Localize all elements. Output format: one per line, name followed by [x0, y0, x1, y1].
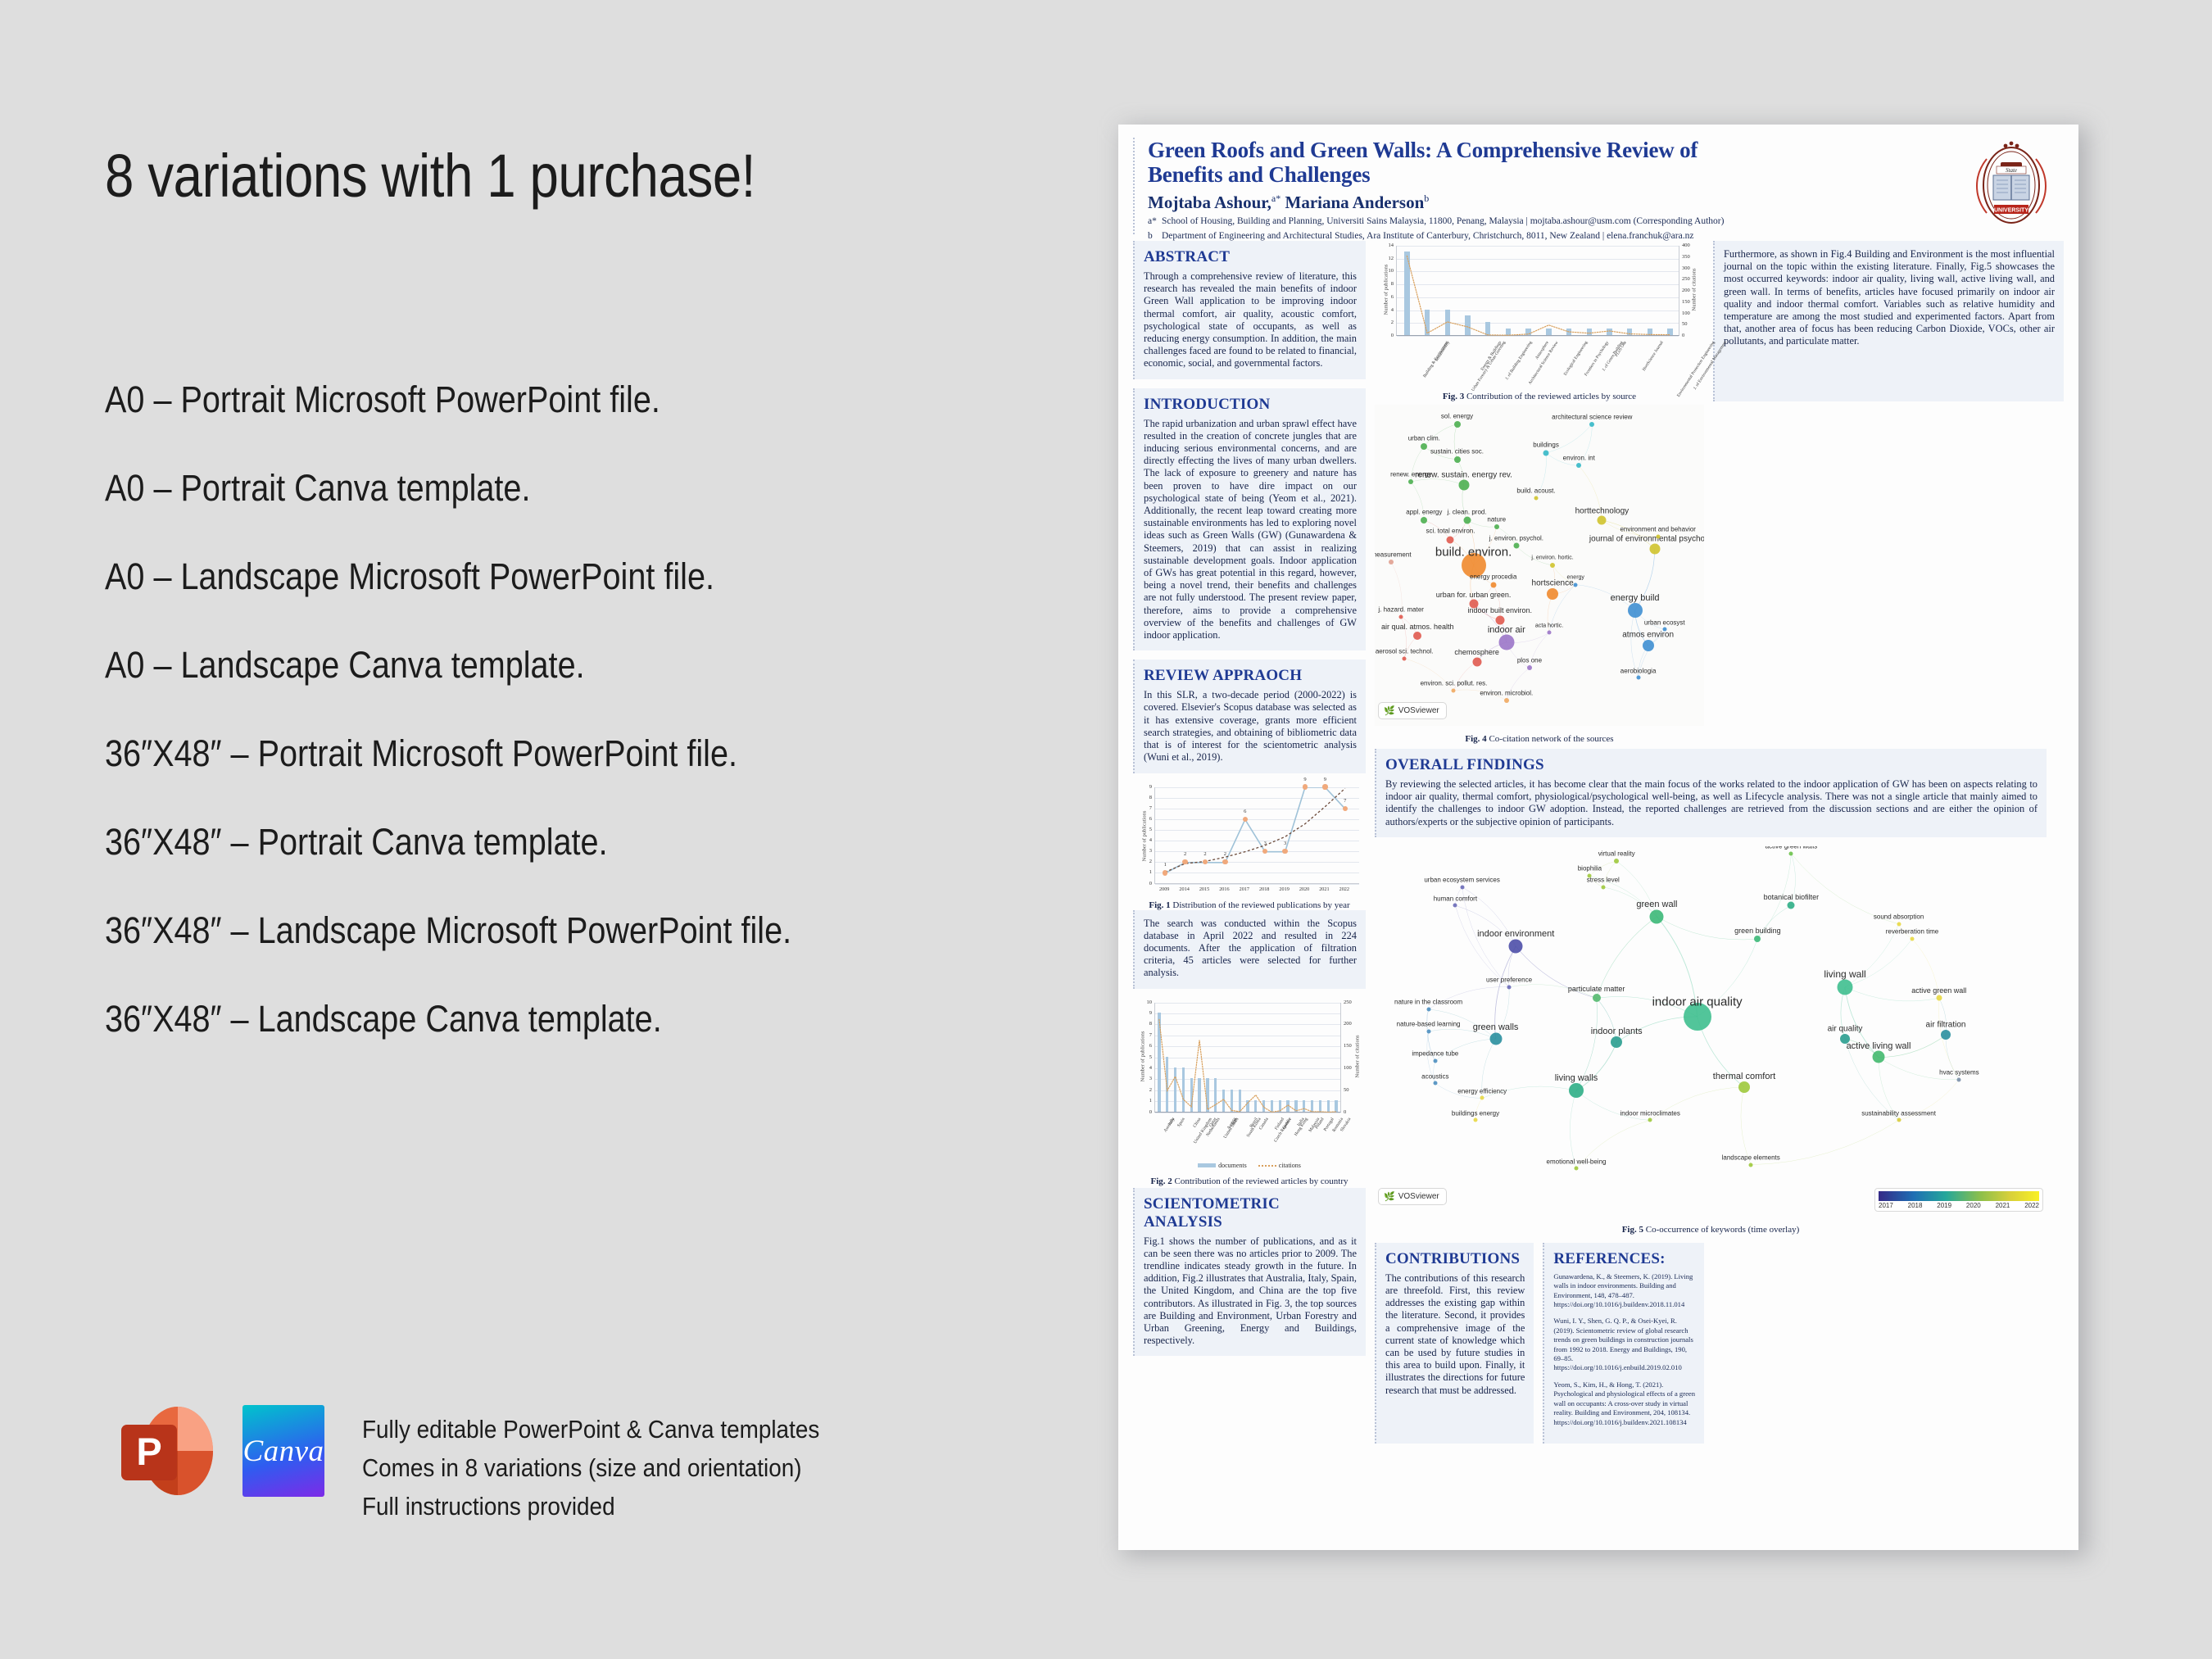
network-node	[1408, 479, 1413, 484]
section-body: The contributions of this research are t…	[1385, 1272, 1525, 1397]
gridline	[1155, 884, 1359, 885]
network-node	[1548, 631, 1552, 635]
network-node-label: j. environ. hortic.	[1531, 555, 1573, 561]
poster-body: ABSTRACT Through a comprehensive review …	[1133, 241, 2064, 1529]
network-node	[1498, 635, 1514, 650]
data-point	[1163, 870, 1167, 875]
network-node	[1738, 1081, 1750, 1093]
network-node-label: hvac systems	[1939, 1069, 1979, 1077]
network-node	[1650, 909, 1664, 923]
x-axis-tick: 2021	[1314, 886, 1334, 892]
network-node-label: environ. int	[1563, 455, 1595, 462]
y-axis-tick: 7	[1137, 1032, 1152, 1038]
network-node	[1454, 456, 1461, 463]
network-node	[1426, 1029, 1430, 1033]
legend-entry-documents: documents	[1198, 1162, 1247, 1169]
list-item: 36″X48″ – Portrait Microsoft PowerPoint …	[105, 731, 955, 819]
network-node-label: indoor environment	[1477, 929, 1554, 939]
x-axis-tick: J. of Building Engineering	[1505, 340, 1534, 380]
legend-entry-citations: citations	[1258, 1162, 1301, 1169]
network-node-label: nature in the classroom	[1394, 999, 1462, 1006]
network-node	[1413, 632, 1421, 640]
network-node-label: impedance tube	[1412, 1050, 1458, 1058]
network-node-label: urban ecosyst	[1644, 619, 1685, 626]
x-axis-tick: 2009	[1154, 886, 1174, 892]
network-node	[1574, 582, 1578, 587]
network-node-label: sustain. cities soc.	[1430, 447, 1484, 455]
network-node-label: biophilia	[1578, 865, 1602, 873]
network-node-label: energy procedia	[1470, 573, 1516, 581]
y-axis-tick: 0	[1137, 1109, 1152, 1115]
affiliation-a-mark: a*	[1148, 215, 1162, 228]
network-node-label: sustainability assessment	[1861, 1109, 1936, 1117]
x-axis-tick: 2022	[1335, 886, 1354, 892]
data-point	[1222, 859, 1227, 864]
network-node	[1454, 421, 1461, 428]
y-axis-tick: 10	[1137, 999, 1152, 1005]
data-label: 6	[1239, 809, 1252, 814]
network-node-label: particulate matter	[1568, 985, 1625, 993]
network-node	[1489, 1032, 1502, 1045]
network-node-label: renew. energy	[1390, 471, 1431, 478]
list-item: 36″X48″ – Portrait Canva template.	[105, 819, 955, 908]
x-axis-tick: 2014	[1175, 886, 1194, 892]
reference-entry: Wuni, I. Y., Shen, G. Q. P., & Osei-Kyei…	[1553, 1317, 1695, 1372]
author-sup-a: a*	[1271, 193, 1281, 204]
fig5-colorbar-gradient	[1879, 1191, 2039, 1201]
figure-4: build. environ.indoor airenergy buildatm…	[1375, 405, 1704, 749]
x-axis-tick: 2015	[1194, 886, 1214, 892]
footer-text-block: Fully editable PowerPoint & Canva templa…	[362, 1405, 870, 1525]
fig4-label: Fig. 4	[1465, 734, 1486, 744]
network-node	[1433, 1081, 1437, 1086]
x-axis-tick: 2018	[1254, 886, 1274, 892]
poster-column-left: ABSTRACT Through a comprehensive review …	[1133, 241, 1366, 1529]
y-axis-tick: 0	[1137, 881, 1152, 886]
network-node	[1480, 1096, 1484, 1100]
network-node	[1873, 1051, 1885, 1063]
y-axis-tick: 6	[1137, 1043, 1152, 1049]
data-label: 2	[1199, 851, 1212, 857]
network-node	[1550, 563, 1555, 568]
fig4-caption-text: Co-citation network of the sources	[1489, 734, 1613, 744]
list-item: 36″X48″ – Landscape Canva template.	[105, 996, 955, 1085]
y-axis-tick: 10	[1379, 268, 1394, 274]
section-body: The search was conducted within the Scop…	[1144, 918, 1357, 980]
figure-3: Number of publications Number of citatio…	[1375, 241, 1704, 401]
page-title: 8 variations with 1 purchase!	[105, 141, 755, 211]
poster-authors: Mojtaba Ashour,a* Mariana Andersonb	[1148, 193, 2064, 213]
vosviewer-badge: 🌿 VOSviewer	[1378, 1188, 1447, 1205]
network-node-label: environment and behavior	[1620, 526, 1696, 533]
vosviewer-label: VOSviewer	[1398, 706, 1439, 715]
fig2-legend: documents citations	[1133, 1162, 1366, 1169]
network-node	[1460, 885, 1464, 889]
y-axis-tick: 8	[1137, 795, 1152, 800]
footer-line: Fully editable PowerPoint & Canva templa…	[362, 1410, 819, 1448]
network-node	[1897, 1118, 1901, 1122]
network-node	[1547, 588, 1558, 600]
network-node	[1569, 1083, 1584, 1098]
section-abstract: ABSTRACT Through a comprehensive review …	[1133, 241, 1366, 379]
network-node-label: indoor microclimates	[1620, 1109, 1680, 1117]
section-title: ABSTRACT	[1144, 248, 1357, 266]
fig2-citations-series	[1155, 1003, 1340, 1113]
section-introduction: INTRODUCTION The rapid urbanization and …	[1133, 388, 1366, 651]
y2-axis-tick: 0	[1682, 333, 1698, 338]
network-node-label: plos one	[1517, 657, 1542, 664]
fig1-caption: Fig. 1 Distribution of the reviewed publ…	[1133, 900, 1366, 910]
fig5-caption-text: Co-occurrence of keywords (time overlay)	[1646, 1225, 1800, 1235]
fig5-colorbar-ticks: 2017 2018 2019 2020 2021 2022	[1879, 1202, 2039, 1209]
network-node-label: aerobiologia	[1620, 667, 1657, 674]
vosviewer-badge: 🌿 VOSviewer	[1378, 702, 1447, 719]
network-node	[1611, 1036, 1622, 1048]
affiliation-a-text: School of Housing, Building and Planning…	[1162, 216, 1724, 226]
network-node	[1513, 543, 1519, 549]
list-item: 36″X48″ – Landscape Microsoft PowerPoint…	[105, 908, 955, 996]
network-node	[1426, 1007, 1430, 1011]
data-point	[1343, 806, 1348, 811]
network-node	[1754, 936, 1761, 942]
network-node	[1614, 859, 1619, 863]
section-body: Fig.1 shows the number of publications, …	[1144, 1235, 1357, 1348]
network-node-label: j. clean. prod.	[1448, 508, 1487, 515]
data-label: 3	[1258, 841, 1271, 846]
section-title: REVIEW APPRAOCH	[1144, 667, 1357, 685]
y-axis-tick: 3	[1137, 1076, 1152, 1081]
fig4-edges	[1375, 405, 1704, 726]
fig2-y2label: Number of citations	[1355, 1022, 1361, 1090]
data-point	[1282, 849, 1287, 854]
network-node-label: journal of environmental psychology	[1589, 534, 1704, 543]
data-label: 2	[1218, 851, 1231, 857]
network-node	[1421, 443, 1427, 450]
network-node-label: stress level	[1587, 877, 1620, 884]
network-node-label: urban clim.	[1408, 434, 1440, 442]
network-node	[1911, 936, 1915, 941]
network-node-label: emotional well-being	[1547, 1158, 1607, 1165]
data-point	[1243, 817, 1248, 822]
y2-axis-tick: 400	[1682, 243, 1698, 248]
network-node-label: horttechnology	[1575, 506, 1630, 515]
network-node-label: air filtration	[1926, 1021, 1966, 1030]
fig3-label: Fig. 3	[1443, 392, 1464, 401]
reference-entry: Yeom, S., Kim, H., & Hong, T. (2021). Ps…	[1553, 1380, 1695, 1427]
network-node	[1789, 851, 1793, 855]
university-seal-icon: State UNIVERSITY	[1967, 139, 2056, 228]
y-axis-tick: 3	[1137, 848, 1152, 854]
powerpoint-logo-letter: P	[121, 1425, 177, 1480]
y-axis-tick: 6	[1137, 816, 1152, 822]
canva-logo-text: Canva	[243, 1434, 324, 1469]
section-overall-findings: OVERALL FINDINGS By reviewing the select…	[1375, 749, 2047, 837]
network-node-label: buildings energy	[1452, 1109, 1499, 1117]
fig1-label: Fig. 1	[1149, 900, 1170, 910]
list-item: A0 – Portrait Microsoft PowerPoint file.	[105, 377, 955, 465]
network-node	[1840, 1034, 1850, 1044]
network-node	[1656, 534, 1660, 538]
network-node	[1788, 902, 1795, 909]
poster-header: Green Roofs and Green Walls: A Comprehen…	[1133, 138, 2064, 234]
section-title: REFERENCES:	[1553, 1250, 1695, 1268]
y-axis-tick: 2	[1137, 859, 1152, 864]
list-item: A0 – Landscape Canva template.	[105, 642, 955, 731]
footer-line: Full instructions provided	[362, 1487, 819, 1525]
reference-entry: Gunawardena, K., & Steemers, K. (2019). …	[1553, 1272, 1695, 1310]
network-node	[1504, 698, 1509, 703]
network-node-label: air quality	[1828, 1024, 1863, 1033]
network-node	[1593, 994, 1601, 1002]
network-node-label: air qual. atmos. health	[1381, 623, 1454, 631]
fig5-colorbar: 2017 2018 2019 2020 2021 2022	[1874, 1188, 2043, 1212]
y-axis-tick: 9	[1137, 784, 1152, 790]
network-node	[1421, 517, 1427, 524]
network-node	[1463, 517, 1471, 524]
fig3-ylabel: Number of publications	[1384, 256, 1389, 324]
fig2-caption: Fig. 2 Contribution of the reviewed arti…	[1133, 1176, 1366, 1186]
network-node	[1534, 496, 1538, 500]
list-item: A0 – Portrait Canva template.	[105, 465, 955, 554]
network-node	[1453, 904, 1457, 908]
section-contributions: CONTRIBUTIONS The contributions of this …	[1375, 1243, 1534, 1444]
poster-title: Green Roofs and Green Walls: A Comprehen…	[1148, 138, 1770, 187]
network-node-label: green building	[1734, 927, 1781, 935]
network-node	[1527, 665, 1532, 670]
y2-axis-tick: 0	[1344, 1109, 1360, 1115]
network-node	[1897, 922, 1901, 926]
network-node-label: living walls	[1555, 1073, 1598, 1083]
network-node	[1575, 1167, 1579, 1171]
y2-axis-tick: 350	[1682, 254, 1698, 260]
section-body: The rapid urbanization and urban sprawl …	[1144, 418, 1357, 642]
section-search-note: The search was conducted within the Scop…	[1133, 910, 1366, 989]
x-axis-tick: 2017	[1235, 886, 1254, 892]
data-point	[1303, 784, 1308, 789]
y2-axis-tick: 50	[1682, 321, 1698, 327]
x-axis-tick: Urban Forestry & Urban Greening	[1471, 340, 1507, 392]
canva-logo-icon: Canva	[243, 1405, 324, 1497]
network-node-label: nature-based learning	[1397, 1021, 1461, 1028]
x-axis-tick: 2016	[1214, 886, 1234, 892]
network-node-label: acoustics	[1421, 1072, 1448, 1080]
figure-5: indoor air qualityliving wallgreen walll…	[1375, 846, 2047, 1240]
section-furthermore: Furthermore, as shown in Fig.4 Building …	[1713, 241, 2064, 401]
fig1-caption-text: Distribution of the reviewed publication…	[1172, 900, 1349, 910]
network-node	[1628, 603, 1643, 618]
affiliation-b-text: Department of Engineering and Architectu…	[1162, 231, 1693, 241]
variations-list: A0 – Portrait Microsoft PowerPoint file.…	[105, 377, 1072, 1085]
network-node	[1749, 1163, 1753, 1167]
data-label: 9	[1318, 777, 1331, 782]
network-node-label: j. hazard. mater	[1378, 606, 1424, 614]
network-node	[1643, 640, 1654, 651]
network-node-label: buildings	[1533, 442, 1559, 449]
fig3-caption: Fig. 3 Contribution of the reviewed arti…	[1375, 392, 1704, 401]
x-axis-tick: Spain	[1176, 1117, 1186, 1128]
fig3-citations-series	[1397, 246, 1680, 336]
network-node	[1452, 688, 1456, 692]
y-axis-tick: 1	[1137, 869, 1152, 875]
network-node	[1447, 536, 1454, 543]
list-item: A0 – Landscape Microsoft PowerPoint file…	[105, 554, 955, 642]
section-scientometric: SCIENTOMETRIC ANALYSIS Fig.1 shows the n…	[1133, 1188, 1366, 1357]
network-node-label: energy	[1567, 575, 1584, 581]
gridline	[1155, 1113, 1340, 1113]
seal-top-word: State	[2006, 167, 2017, 174]
network-node	[1601, 885, 1605, 889]
fig1-series	[1155, 787, 1355, 884]
network-node-label: aerosol sci. technol.	[1376, 648, 1434, 655]
network-node-label: indoor built environ.	[1467, 606, 1532, 614]
network-node	[1543, 450, 1549, 456]
network-node-label: appl. energy	[1406, 509, 1442, 516]
y-axis-tick: 12	[1379, 256, 1394, 261]
network-node-label: chemosphere	[1454, 648, 1499, 656]
data-label: 1	[1158, 862, 1172, 868]
section-review-approach: REVIEW APPRAOCH In this SLR, a two-decad…	[1133, 660, 1366, 773]
y-axis-tick: 5	[1137, 827, 1152, 832]
network-node-label: human comfort	[1434, 895, 1477, 902]
section-body: In this SLR, a two-decade period (2000-2…	[1144, 689, 1357, 764]
network-node-label: environ. microbiol.	[1480, 689, 1533, 696]
section-body: Furthermore, as shown in Fig.4 Building …	[1724, 248, 2055, 348]
figure-1: Number of publications 01234567891222633…	[1133, 782, 1366, 910]
data-label: 3	[1279, 841, 1292, 846]
author-sup-b: b	[1424, 193, 1429, 204]
network-node	[1636, 676, 1640, 680]
section-body: Through a comprehensive review of litera…	[1144, 270, 1357, 370]
network-node-label: energy build	[1611, 593, 1660, 603]
network-node	[1576, 463, 1581, 468]
y-axis-tick: 9	[1137, 1010, 1152, 1016]
x-axis-tick: 2020	[1294, 886, 1314, 892]
vosviewer-label: VOSviewer	[1398, 1192, 1439, 1201]
section-title: CONTRIBUTIONS	[1385, 1250, 1525, 1268]
fig5-label: Fig. 5	[1622, 1225, 1643, 1235]
y2-axis-tick: 200	[1344, 1021, 1360, 1027]
y-axis-tick: 6	[1379, 294, 1394, 300]
marketing-panel: 8 variations with 1 purchase! A0 – Portr…	[0, 0, 1098, 1659]
network-node-label: nature	[1487, 515, 1506, 523]
y2-axis-tick: 250	[1344, 999, 1360, 1005]
network-node	[1941, 1030, 1951, 1040]
y-axis-tick: 4	[1137, 1065, 1152, 1071]
network-node-label: indoor air quality	[1652, 995, 1743, 1009]
network-node-label: botanical biofilter	[1764, 893, 1820, 901]
y-axis-tick: 1	[1137, 1098, 1152, 1104]
x-axis-tick: Frontiers in Psychology	[1584, 340, 1610, 377]
network-node-label: sol. energy	[1441, 412, 1473, 419]
y-axis-tick: 4	[1137, 837, 1152, 843]
vosviewer-leaf-icon: 🌿	[1384, 705, 1395, 716]
y2-axis-tick: 200	[1682, 288, 1698, 293]
network-node-label: build. acoust.	[1516, 487, 1555, 495]
network-node-label: indoor plants	[1591, 1027, 1643, 1036]
y2-axis-tick: 100	[1344, 1065, 1360, 1071]
network-node-label: living wall	[1824, 968, 1865, 980]
y-axis-tick: 8	[1137, 1021, 1152, 1027]
network-node-label: landscape elements	[1722, 1154, 1780, 1162]
fig3-caption-text: Contribution of the reviewed articles by…	[1466, 392, 1636, 401]
author-name-a: Mojtaba Ashour,	[1148, 193, 1271, 212]
network-node	[1389, 560, 1394, 564]
network-node-label: measurement	[1375, 551, 1412, 559]
y2-axis-tick: 300	[1682, 265, 1698, 271]
y-axis-tick: 8	[1379, 281, 1394, 287]
network-node	[1598, 516, 1607, 525]
network-node-label: indoor air	[1488, 625, 1525, 635]
network-node-label: active living wall	[1847, 1041, 1911, 1051]
section-title: OVERALL FINDINGS	[1385, 756, 2037, 774]
network-node	[1495, 615, 1504, 624]
fig2-caption-text: Contribution of the reviewed articles by…	[1175, 1176, 1349, 1186]
network-node	[1490, 582, 1496, 587]
fig2-label: Fig. 2	[1150, 1176, 1172, 1186]
affiliation-a: a*School of Housing, Building and Planni…	[1148, 215, 2064, 228]
y-axis-tick: 5	[1137, 1054, 1152, 1060]
network-node-label: architectural science review	[1552, 413, 1632, 420]
data-label: 9	[1299, 777, 1312, 782]
y-axis-tick: 2	[1379, 320, 1394, 325]
network-node-label: atmos environ	[1622, 631, 1674, 640]
network-node	[1649, 544, 1660, 555]
x-axis-tick: HortScience Journal	[1642, 340, 1665, 372]
network-node	[1589, 422, 1594, 427]
network-node-label: j. environ. psychol.	[1489, 534, 1543, 542]
network-node	[1936, 995, 1942, 1001]
powerpoint-logo-icon: P	[121, 1405, 213, 1497]
network-node	[1403, 656, 1407, 660]
network-node-label: sci. total environ.	[1426, 528, 1475, 535]
network-node-label: acta hortic.	[1535, 623, 1563, 628]
network-node	[1662, 628, 1666, 632]
poster-column-middle: Number of publications Number of citatio…	[1375, 241, 1704, 1529]
section-body: By reviewing the selected articles, it h…	[1385, 778, 2037, 828]
network-node	[1472, 657, 1481, 666]
section-title: SCIENTOMETRIC ANALYSIS	[1144, 1195, 1357, 1231]
gridline	[1397, 336, 1679, 337]
y-axis-tick: 14	[1379, 243, 1394, 248]
y2-axis-tick: 250	[1682, 276, 1698, 282]
y2-axis-tick: 150	[1344, 1043, 1360, 1049]
y-axis-tick: 2	[1137, 1087, 1152, 1093]
network-node	[1474, 1118, 1478, 1122]
fig4-caption: Fig. 4 Co-citation network of the source…	[1375, 734, 1704, 744]
network-node	[1494, 524, 1499, 529]
y-axis-tick: 7	[1137, 805, 1152, 811]
y-axis-tick: 4	[1379, 307, 1394, 313]
network-node	[1509, 939, 1523, 953]
x-axis-tick: 2019	[1275, 886, 1294, 892]
y2-axis-tick: 150	[1682, 299, 1698, 305]
network-node-label: environ. sci. pollut. res.	[1421, 680, 1488, 687]
network-node-label: active green wall	[1911, 986, 1966, 995]
network-node-label: reverberation time	[1886, 928, 1938, 936]
author-name-b: Mariana Anderson	[1285, 193, 1425, 212]
footer-row: P Canva Fully editable PowerPoint & Canv…	[121, 1405, 870, 1525]
data-point	[1322, 784, 1327, 789]
network-node-label: thermal comfort	[1713, 1072, 1775, 1081]
vosviewer-leaf-icon: 🌿	[1384, 1191, 1395, 1202]
poster-preview[interactable]: Green Roofs and Green Walls: A Comprehen…	[1118, 125, 2078, 1550]
figure-2: Number of publications Number of citatio…	[1133, 998, 1366, 1188]
y2-axis-tick: 50	[1344, 1087, 1360, 1093]
network-node	[1399, 614, 1403, 619]
network-node-label: sound absorption	[1874, 913, 1924, 921]
footer-line: Comes in 8 variations (size and orientat…	[362, 1448, 819, 1487]
network-node	[1507, 985, 1512, 989]
